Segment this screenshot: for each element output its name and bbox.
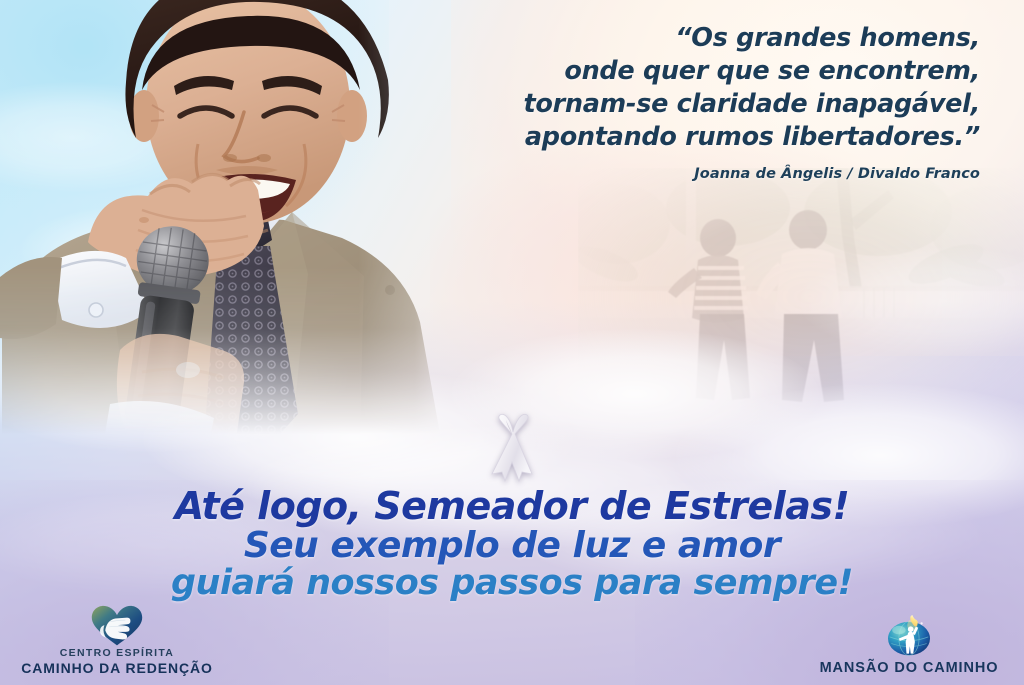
headline-line-2: Seu exemplo de luz e amor (0, 527, 1024, 566)
mourning-ribbon-icon (486, 412, 538, 484)
quote-line-1: “Os grandes homens, (420, 22, 980, 55)
quote-attribution: Joanna de Ângelis / Divaldo Franco (420, 166, 980, 182)
logo-left-line-2: CAMINHO DA REDENÇÃO (8, 660, 226, 677)
logo-mansao-do-caminho: MANSÃO DO CAMINHO (802, 615, 1016, 677)
memorial-poster: “Os grandes homens, onde quer que se enc… (0, 0, 1024, 685)
ribbon-shape (486, 412, 538, 484)
quote-line-4: apontando rumos libertadores.” (420, 121, 980, 154)
quote-line-2: onde quer que se encontrem, (420, 55, 980, 88)
cuff-button (89, 303, 103, 317)
headline-line-3: guiará nossos passos para sempre! (0, 565, 1024, 602)
logo-centro-espirita: CENTRO ESPÍRITA CAMINHO DA REDENÇÃO (8, 605, 226, 677)
logo-right-line-1: MANSÃO DO CAMINHO (802, 660, 1016, 677)
heart-with-hands-icon (86, 605, 148, 647)
portrait-illustration (0, 0, 462, 434)
headline-line-1: Até logo, Semeador de Estrelas! (0, 486, 1024, 527)
logo-left-line-1: CENTRO ESPÍRITA (8, 647, 226, 660)
quote-line-3: tornam-se claridade inapagável, (420, 88, 980, 121)
quote-block: “Os grandes homens, onde quer que se enc… (420, 22, 980, 182)
portrait-photo (0, 0, 462, 434)
ring (176, 362, 200, 378)
headline-block: Até logo, Semeador de Estrelas! Seu exem… (0, 486, 1024, 603)
globe-with-figure-and-flame-icon (880, 615, 938, 657)
